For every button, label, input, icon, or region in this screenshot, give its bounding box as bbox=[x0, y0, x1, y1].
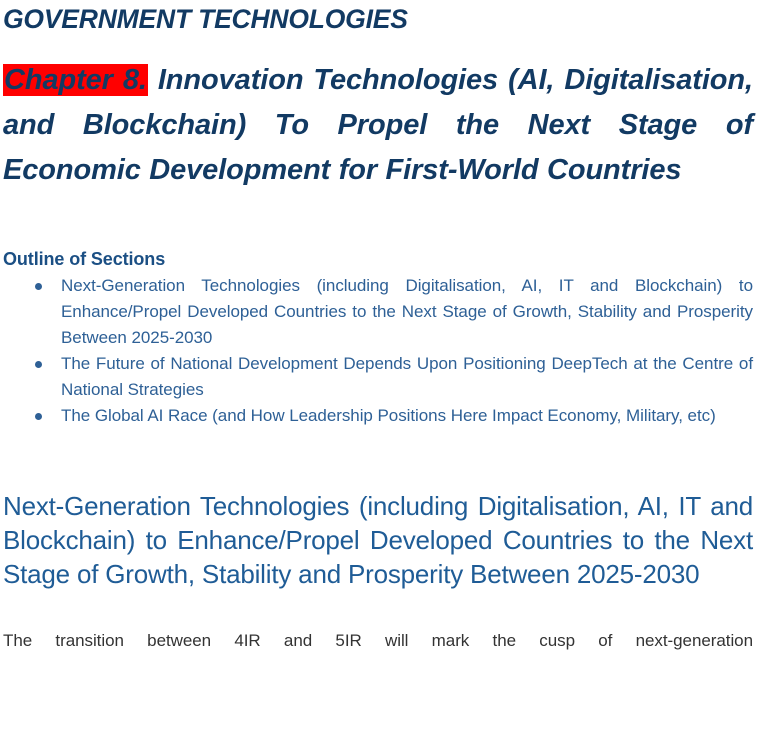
body-paragraph: The transition between 4IR and 5IR will … bbox=[3, 591, 753, 654]
list-item: Next-Generation Technologies (including … bbox=[3, 273, 753, 351]
bullet-dot-icon bbox=[35, 413, 42, 420]
running-header: GOVERNMENT TECHNOLOGIES bbox=[3, 0, 753, 36]
list-item-label: Next-Generation Technologies (including … bbox=[61, 276, 753, 347]
outline-heading: Outline of Sections bbox=[3, 193, 753, 270]
chapter-title: Chapter 8. Innovation Technologies (AI, … bbox=[3, 36, 753, 193]
bullet-dot-icon bbox=[35, 283, 42, 290]
section-heading: Next-Generation Technologies (including … bbox=[3, 429, 753, 591]
list-item: The Global AI Race (and How Leadership P… bbox=[3, 403, 753, 429]
list-item-label: The Global AI Race (and How Leadership P… bbox=[61, 406, 716, 425]
outline-list: Next-Generation Technologies (including … bbox=[3, 270, 753, 429]
list-item: The Future of National Development Depen… bbox=[3, 351, 753, 403]
bullet-dot-icon bbox=[35, 361, 42, 368]
chapter-number-highlight: Chapter 8. bbox=[3, 64, 148, 96]
document-page: GOVERNMENT TECHNOLOGIES Chapter 8. Innov… bbox=[0, 0, 758, 753]
list-item-label: The Future of National Development Depen… bbox=[61, 354, 753, 399]
